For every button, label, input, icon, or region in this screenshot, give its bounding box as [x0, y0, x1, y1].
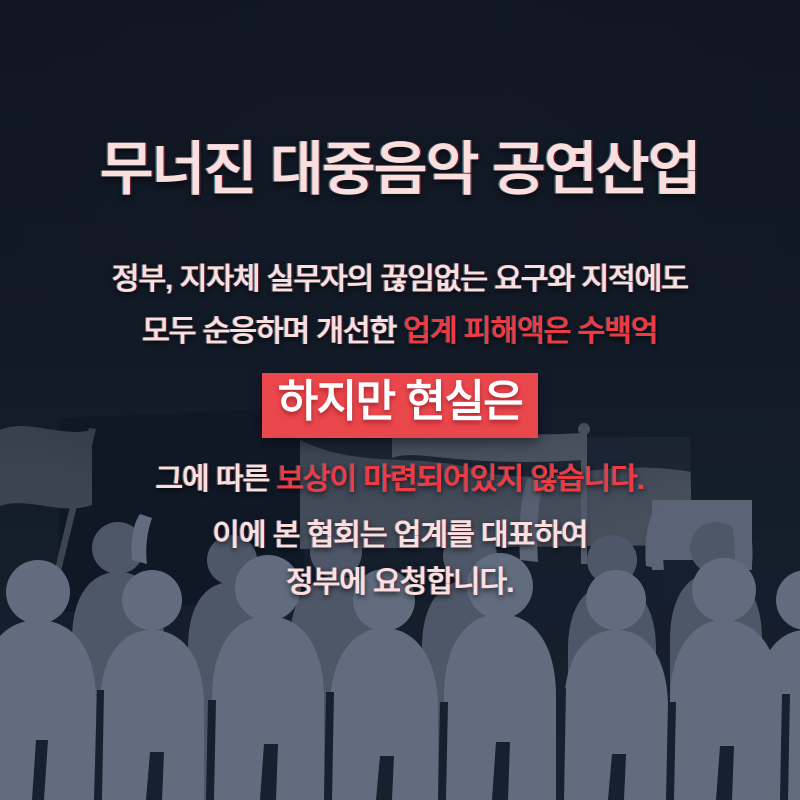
body-line-4: 그에 따른 보상이 마련되어있지 않습니다. [0, 463, 800, 496]
body-line-2: 모두 순응하며 개선한 업계 피해액은 수백억 [0, 315, 800, 348]
body-line-2-accent: 업계 피해액은 수백억 [404, 315, 658, 348]
highlight-text: 하지만 현실은 [278, 377, 523, 428]
body-line-1: 정부, 지자체 실무자의 끊임없는 요구와 지적에도 [0, 263, 800, 296]
poster-canvas: 무너진 대중음악 공연산업 정부, 지자체 실무자의 끊임없는 요구와 지적에도… [0, 0, 800, 800]
body-line-4-plain: 그에 따른 [156, 463, 277, 496]
page-title: 무너진 대중음악 공연산업 [0, 141, 800, 199]
body-line-5: 이에 본 협회는 업계를 대표하여 [0, 519, 800, 552]
status-badge: 하지만 현실은 [262, 373, 539, 438]
body-line-2-plain: 모두 순응하며 개선한 [142, 315, 403, 348]
poster-content: 무너진 대중음악 공연산업 정부, 지자체 실무자의 끊임없는 요구와 지적에도… [0, 0, 800, 800]
body-line-4-accent: 보상이 마련되어있지 않습니다. [277, 463, 645, 496]
body-line-6: 정부에 요청합니다. [0, 566, 800, 599]
highlight-row: 하지만 현실은 [0, 373, 800, 438]
